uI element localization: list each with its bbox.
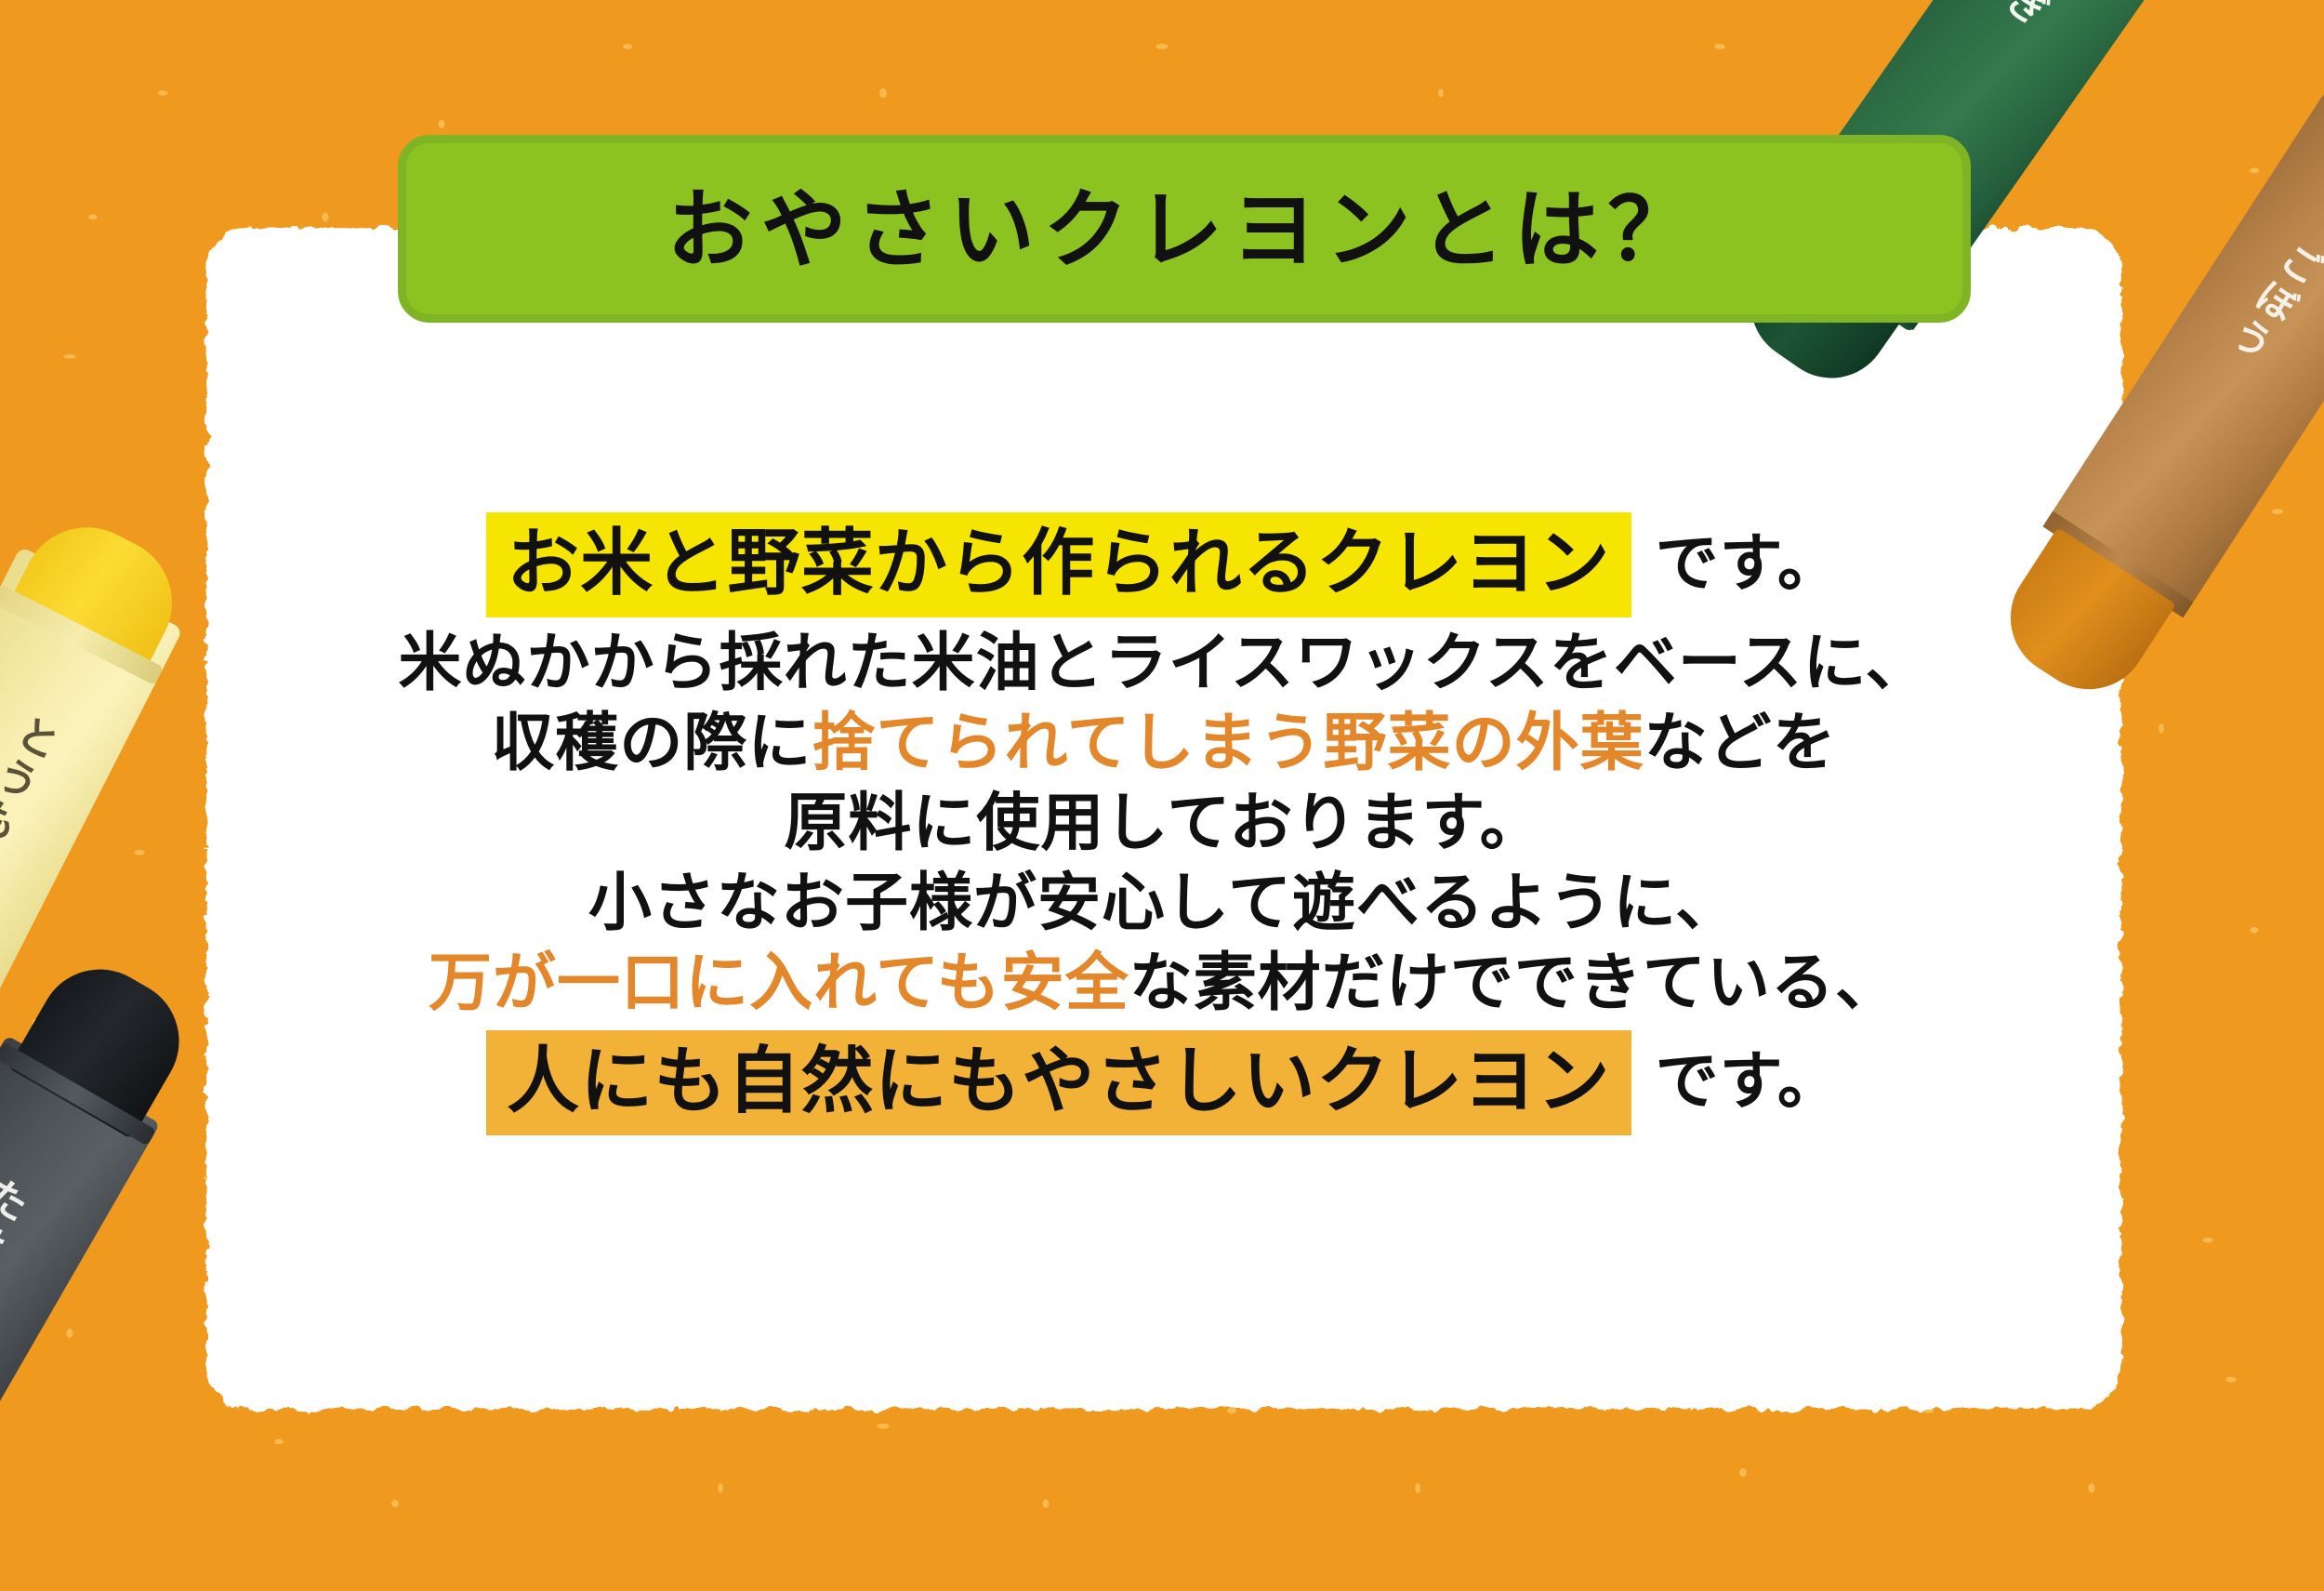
text-line-5: 小さなお子様が安心して遊べるように、 (588, 870, 1739, 937)
body-text-block: お米と野菜から作られるクレヨン です。 米ぬかから採れた米油とライスワックスをベ… (206, 228, 2121, 1409)
text-made-only-of-safe-materials: な素材だけでできている、 (1129, 950, 1899, 1017)
text-line-4: 原料に使用しております。 (784, 790, 1543, 857)
highlighted-phrase-rice-vegetable-crayon: お米と野菜から作られるクレヨン (486, 512, 1631, 617)
text-rice-bran-oil: 米ぬかから採れた米油とライスワックスをベースに、 (399, 630, 1930, 697)
text-used-as-raw-material: 原料に使用しております。 (784, 790, 1543, 857)
accent-phrase-safe-if-swallowed: 万が一口に入れても安全 (429, 950, 1129, 1017)
text-tail-desu-2: です。 (1656, 1049, 1842, 1116)
accent-phrase-discarded-outer-leaves: 捨てられてしまう野菜の外葉 (812, 710, 1644, 777)
text-harvest-prefix: 収穫の際に (491, 710, 812, 777)
text-safe-for-children: 小さなお子様が安心して遊べるように、 (588, 870, 1739, 937)
highlighted-phrase-gentle-crayon: 人にも自然にもやさしいクレヨン (486, 1030, 1631, 1135)
text-line-7: 人にも自然にもやさしいクレヨン です。 (486, 1030, 1842, 1135)
text-line-6: 万が一口に入れても安全 な素材だけでできている、 (429, 950, 1899, 1017)
text-line-3: 収穫の際に 捨てられてしまう野菜の外葉 などを (491, 710, 1836, 777)
text-tail-desu-1: です。 (1656, 531, 1842, 598)
text-harvest-suffix: などを (1644, 710, 1837, 777)
text-line-2: 米ぬかから採れた米油とライスワックスをベースに、 (399, 630, 1930, 697)
text-line-1: お米と野菜から作られるクレヨン です。 (486, 512, 1842, 617)
